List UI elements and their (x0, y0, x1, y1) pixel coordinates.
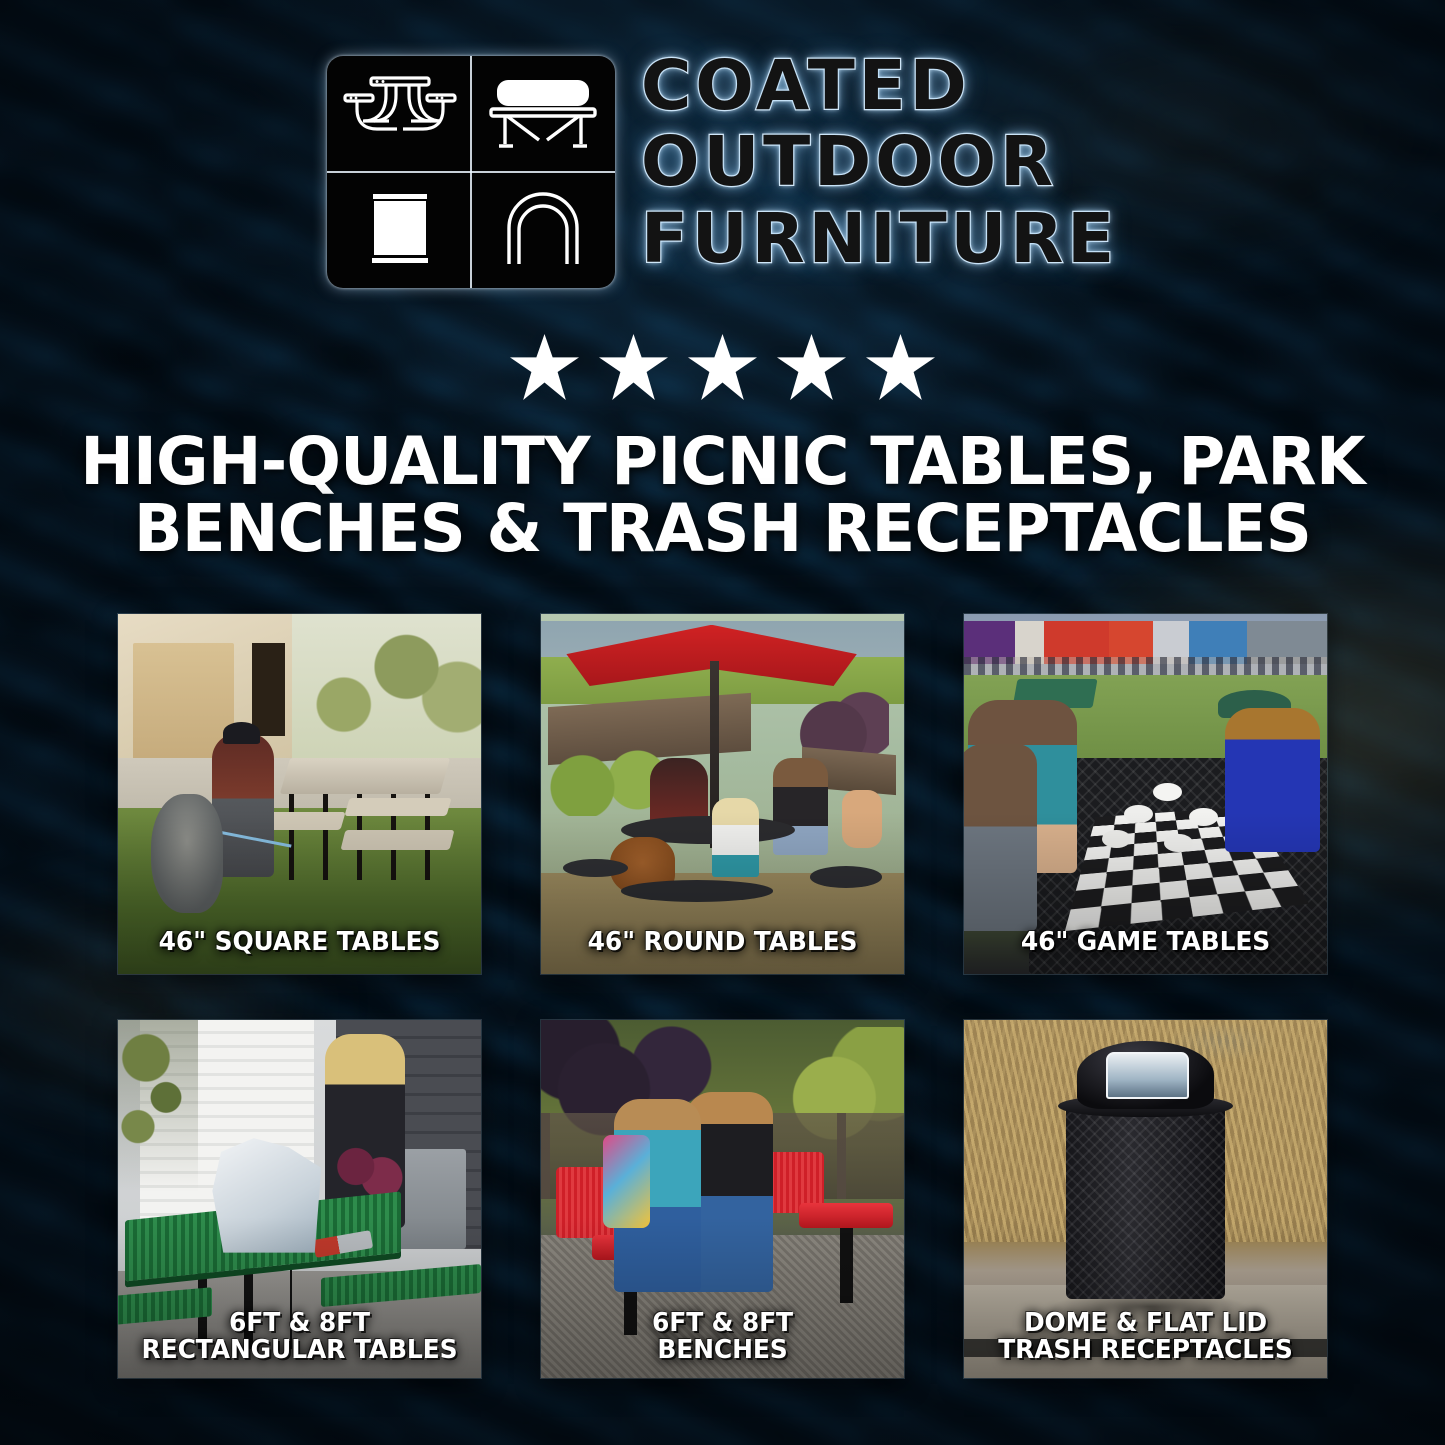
product-grid: 46" SQUARE TABLES (118, 614, 1327, 1378)
product-caption-square-tables: 46" SQUARE TABLES (131, 929, 468, 956)
caption-line: 6FT & 8FT (131, 1310, 468, 1337)
marketing-poster: COATED OUTDOOR FURNITURE HIGH-QUALITY PI… (0, 0, 1445, 1445)
brand-wordmark: COATED OUTDOOR FURNITURE (641, 52, 1118, 273)
product-caption-round-tables: 46" ROUND TABLES (554, 929, 891, 956)
logo-icon-grid (327, 56, 615, 288)
caption-line: BENCHES (554, 1337, 891, 1364)
caption-line: RECTANGULAR TABLES (131, 1337, 468, 1364)
star-icon-4 (777, 334, 846, 400)
product-card-trash-receptacles[interactable]: DOME & FLAT LID TRASH RECEPTACLES (964, 1020, 1327, 1378)
caption-line: TRASH RECEPTACLES (977, 1337, 1314, 1364)
caption-line: 46" GAME TABLES (977, 929, 1314, 956)
headline: HIGH-QUALITY PICNIC TABLES, PARK BENCHES… (80, 428, 1365, 563)
brand-name-line-3: FURNITURE (641, 205, 1118, 273)
product-caption-trash-receptacles: DOME & FLAT LID TRASH RECEPTACLES (977, 1310, 1314, 1364)
picnic-table-icon (327, 56, 471, 172)
product-card-round-tables[interactable]: 46" ROUND TABLES (541, 614, 904, 974)
brand-logo: COATED OUTDOOR FURNITURE (0, 56, 1445, 288)
product-caption-rectangular-tables: 6FT & 8FT RECTANGULAR TABLES (131, 1310, 468, 1364)
star-icon-1 (510, 334, 579, 400)
product-card-benches[interactable]: 6FT & 8FT BENCHES (541, 1020, 904, 1378)
brand-name-line-2: OUTDOOR (641, 128, 1057, 196)
caption-line: 46" ROUND TABLES (554, 929, 891, 956)
brand-name-line-1: COATED (641, 52, 971, 120)
product-card-square-tables[interactable]: 46" SQUARE TABLES (118, 614, 481, 974)
star-icon-3 (688, 334, 757, 400)
headline-line-2: BENCHES & TRASH RECEPTACLES (80, 495, 1365, 562)
product-caption-benches: 6FT & 8FT BENCHES (554, 1310, 891, 1364)
star-icon-5 (866, 334, 935, 400)
dome-lid-icon (471, 172, 615, 288)
headline-line-1: HIGH-QUALITY PICNIC TABLES, PARK (80, 428, 1365, 495)
product-photo-round-tables (541, 614, 904, 974)
product-card-rectangular-tables[interactable]: 6FT & 8FT RECTANGULAR TABLES (118, 1020, 481, 1378)
product-photo-square-tables (118, 614, 481, 974)
caption-line: DOME & FLAT LID (977, 1310, 1314, 1337)
product-card-game-tables[interactable]: 46" GAME TABLES (964, 614, 1327, 974)
star-rating (0, 334, 1445, 400)
caption-line: 6FT & 8FT (554, 1310, 891, 1337)
trash-receptacle-icon (327, 172, 471, 288)
product-photo-game-tables (964, 614, 1327, 974)
caption-line: 46" SQUARE TABLES (131, 929, 468, 956)
star-icon-2 (599, 334, 668, 400)
bench-icon (471, 56, 615, 172)
product-caption-game-tables: 46" GAME TABLES (977, 929, 1314, 956)
